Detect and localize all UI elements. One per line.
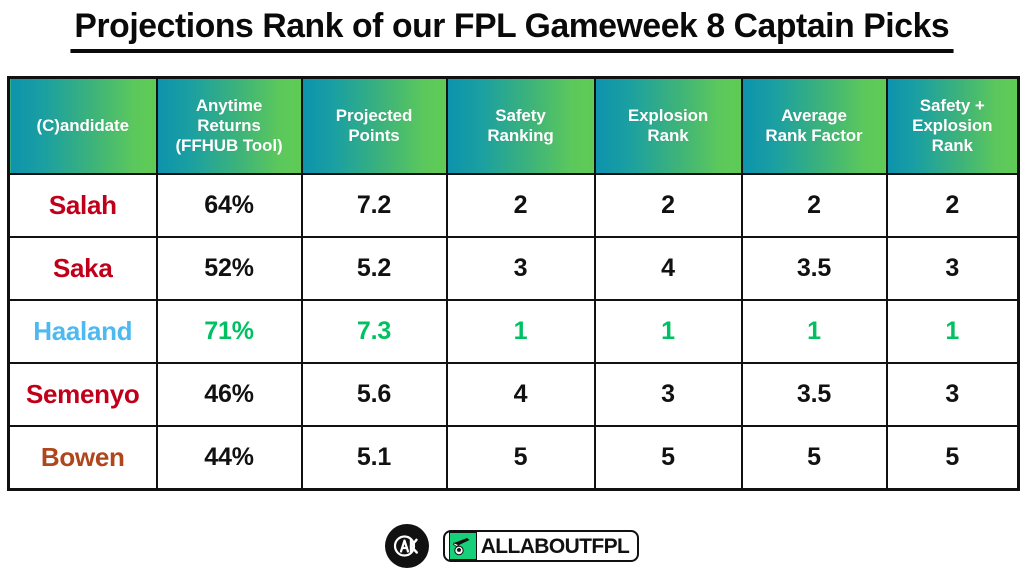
player-name-cell: Saka [9,237,157,300]
football-boot-icon [449,532,477,560]
captain-picks-table-container: (C)andidateAnytimeReturns(FFHUB Tool)Pro… [7,76,1017,491]
cell-safety_ranking: 3 [447,237,595,300]
cell-average_rank: 3.5 [742,237,887,300]
column-header-line: Returns [158,116,301,136]
cell-anytime_returns: 71% [157,300,302,363]
column-header-line: Safety + [888,96,1018,116]
column-header-line: Anytime [158,96,301,116]
page-title: Projections Rank of our FPL Gameweek 8 C… [71,8,954,53]
column-header-candidate[interactable]: (C)andidate [9,78,157,175]
cell-explosion_rank: 3 [595,363,742,426]
cell-average_rank: 5 [742,426,887,490]
player-name-cell: Haaland [9,300,157,363]
column-header-anytime_returns[interactable]: AnytimeReturns(FFHUB Tool) [157,78,302,175]
captain-picks-table: (C)andidateAnytimeReturns(FFHUB Tool)Pro… [7,76,1020,491]
cell-safety_ranking: 2 [447,174,595,237]
table-row[interactable]: Salah64%7.22222 [9,174,1019,237]
cell-average_rank: 3.5 [742,363,887,426]
page-title-container: Projections Rank of our FPL Gameweek 8 C… [0,8,1024,53]
footer-logos: ALLABOUTFPL [0,524,1024,568]
column-header-safety_explosion[interactable]: Safety +ExplosionRank [887,78,1019,175]
cell-explosion_rank: 2 [595,174,742,237]
cell-projected_points: 7.3 [302,300,447,363]
column-header-line: (FFHUB Tool) [158,136,301,156]
cell-explosion_rank: 4 [595,237,742,300]
column-header-line: Ranking [448,126,594,146]
column-header-safety_ranking[interactable]: SafetyRanking [447,78,595,175]
cell-safety_ranking: 5 [447,426,595,490]
ak-monogram-icon [385,524,429,568]
cell-anytime_returns: 64% [157,174,302,237]
cell-safety_explosion: 3 [887,363,1019,426]
column-header-line: Explosion [888,116,1018,136]
cell-average_rank: 1 [742,300,887,363]
cell-safety_explosion: 1 [887,300,1019,363]
player-name-cell: Salah [9,174,157,237]
cell-projected_points: 7.2 [302,174,447,237]
column-header-explosion_rank[interactable]: ExplosionRank [595,78,742,175]
column-header-line: Explosion [596,106,741,126]
column-header-line: Safety [448,106,594,126]
infographic-page: Projections Rank of our FPL Gameweek 8 C… [0,0,1024,576]
column-header-line: Rank [888,136,1018,156]
table-body: Salah64%7.22222Saka52%5.2343.53Haaland71… [9,174,1019,490]
allaboutfpl-label: ALLABOUTFPL [481,536,630,557]
player-name-cell: Bowen [9,426,157,490]
table-row[interactable]: Bowen44%5.15555 [9,426,1019,490]
table-row[interactable]: Saka52%5.2343.53 [9,237,1019,300]
column-header-line: (C)andidate [10,116,156,136]
column-header-line: Rank Factor [743,126,886,146]
column-header-average_rank[interactable]: AverageRank Factor [742,78,887,175]
cell-anytime_returns: 46% [157,363,302,426]
cell-anytime_returns: 44% [157,426,302,490]
column-header-line: Rank [596,126,741,146]
cell-projected_points: 5.2 [302,237,447,300]
player-name-cell: Semenyo [9,363,157,426]
cell-safety_explosion: 5 [887,426,1019,490]
column-header-line: Average [743,106,886,126]
cell-explosion_rank: 5 [595,426,742,490]
table-header-row: (C)andidateAnytimeReturns(FFHUB Tool)Pro… [9,78,1019,175]
cell-explosion_rank: 1 [595,300,742,363]
cell-projected_points: 5.1 [302,426,447,490]
cell-safety_explosion: 2 [887,174,1019,237]
column-header-projected_points[interactable]: ProjectedPoints [302,78,447,175]
column-header-line: Points [303,126,446,146]
allaboutfpl-badge: ALLABOUTFPL [443,530,640,562]
column-header-line: Projected [303,106,446,126]
table-header: (C)andidateAnytimeReturns(FFHUB Tool)Pro… [9,78,1019,175]
cell-safety_ranking: 1 [447,300,595,363]
cell-projected_points: 5.6 [302,363,447,426]
cell-safety_explosion: 3 [887,237,1019,300]
cell-average_rank: 2 [742,174,887,237]
table-row[interactable]: Haaland71%7.31111 [9,300,1019,363]
cell-safety_ranking: 4 [447,363,595,426]
table-row[interactable]: Semenyo46%5.6433.53 [9,363,1019,426]
cell-anytime_returns: 52% [157,237,302,300]
